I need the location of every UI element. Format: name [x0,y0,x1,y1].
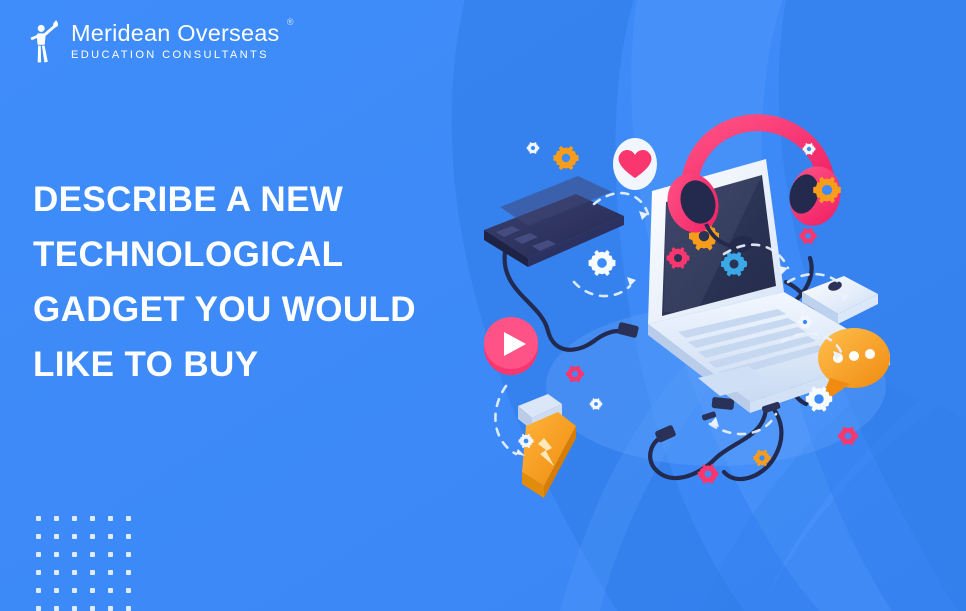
grid-dot [126,534,131,539]
grid-dot [108,570,113,575]
promo-banner: Meridean Overseas ® EDUCATION CONSULTANT… [0,0,966,611]
grid-dot [126,516,131,521]
grid-dot [90,552,95,557]
grid-dot [90,534,95,539]
grid-dot [126,570,131,575]
grid-dot [108,516,113,521]
torch-bearer-figure-icon [28,18,62,64]
logo-tagline: EDUCATION CONSULTANTS [71,49,279,61]
dot-grid-decoration [36,516,144,611]
brand-logo[interactable]: Meridean Overseas ® EDUCATION CONSULTANT… [28,18,293,64]
logo-wordmark: Meridean Overseas ® EDUCATION CONSULTANT… [71,21,293,61]
grid-dot [90,606,95,611]
grid-dot [36,606,41,611]
headline-line-1: DESCRIBE A NEW [33,172,503,227]
grid-dot [36,534,41,539]
grid-dot [90,588,95,593]
grid-dot [36,588,41,593]
grid-dot [54,516,59,521]
grid-dot [90,570,95,575]
grid-dot [36,516,41,521]
grid-dot [126,552,131,557]
grid-dot [54,588,59,593]
illustration-svg [466,86,966,516]
grid-dot [126,606,131,611]
grid-dot [54,570,59,575]
grid-dot [108,534,113,539]
headline-line-3: GADGET YOU WOULD [33,282,503,337]
grid-dot [54,606,59,611]
grid-dot [54,552,59,557]
grid-dot [36,552,41,557]
grid-dot [108,552,113,557]
headline-line-4: LIKE TO BUY [33,337,503,392]
grid-dot [72,516,77,521]
grid-dot [72,588,77,593]
grid-dot [108,588,113,593]
grid-dot [72,606,77,611]
grid-dot [72,552,77,557]
grid-dot [54,534,59,539]
grid-dot [126,588,131,593]
technology-gadgets-illustration [466,86,966,516]
heart-badge [613,138,657,190]
registered-trademark-icon: ® [287,18,294,27]
grid-dot [36,570,41,575]
logo-company-name: Meridean Overseas [71,21,279,45]
grid-dot [72,570,77,575]
headline-line-2: TECHNOLOGICAL [33,227,503,282]
headline-title: DESCRIBE A NEW TECHNOLOGICAL GADGET YOU … [33,172,503,392]
grid-dot [90,516,95,521]
play-button-badge [484,317,538,375]
grid-dot [108,606,113,611]
grid-dot [72,534,77,539]
